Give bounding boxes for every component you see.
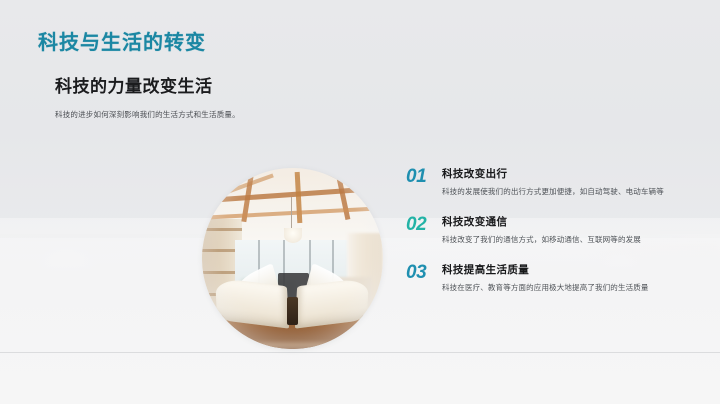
list-item: 02 科技改变通信 科技改变了我们的通信方式，如移动通信、互联网等的发展	[406, 214, 706, 246]
point-description: 科技的发展使我们的出行方式更加便捷，如自动驾驶、电动车辆等	[442, 186, 697, 198]
point-number: 02	[406, 214, 442, 234]
lead-heading: 科技的力量改变生活	[55, 72, 355, 97]
lead-description: 科技的进步如何深刻影响我们的生活方式和生活质量。	[55, 109, 355, 120]
ghost-lamp-stem	[62, 288, 72, 348]
ghost-lamp-shape	[40, 255, 94, 301]
list-item: 03 科技提高生活质量 科技在医疗、教育等方面的应用极大地提高了我们的生活质量	[406, 262, 706, 294]
point-title: 科技提高生活质量	[442, 262, 706, 277]
ghost-book-stack	[140, 272, 196, 350]
point-body: 科技提高生活质量 科技在医疗、教育等方面的应用极大地提高了我们的生活质量	[442, 262, 706, 294]
page-title: 科技与生活的转变	[38, 26, 206, 55]
ghost-screen-shape	[80, 305, 132, 350]
point-body: 科技改变出行 科技的发展使我们的出行方式更加便捷，如自动驾驶、电动车辆等	[442, 166, 706, 198]
point-body: 科技改变通信 科技改变了我们的通信方式，如移动通信、互联网等的发展	[442, 214, 706, 246]
point-description: 科技在医疗、教育等方面的应用极大地提高了我们的生活质量	[442, 282, 697, 294]
ghost-figure-right-base	[592, 300, 650, 350]
photo-edge-veil	[202, 168, 383, 349]
slide-canvas: 科技与生活的转变 科技的力量改变生活 科技的进步如何深刻影响我们的生活方式和生活…	[0, 0, 720, 404]
lead-block: 科技的力量改变生活 科技的进步如何深刻影响我们的生活方式和生活质量。	[55, 72, 355, 120]
points-list: 01 科技改变出行 科技的发展使我们的出行方式更加便捷，如自动驾驶、电动车辆等 …	[406, 166, 706, 294]
point-title: 科技改变出行	[442, 166, 706, 181]
list-item: 01 科技改变出行 科技的发展使我们的出行方式更加便捷，如自动驾驶、电动车辆等	[406, 166, 706, 198]
circular-photo	[202, 168, 383, 349]
background-desk-line	[0, 352, 720, 353]
point-number: 01	[406, 166, 442, 186]
point-number: 03	[406, 262, 442, 282]
point-description: 科技改变了我们的通信方式，如移动通信、互联网等的发展	[442, 234, 697, 246]
point-title: 科技改变通信	[442, 214, 706, 229]
